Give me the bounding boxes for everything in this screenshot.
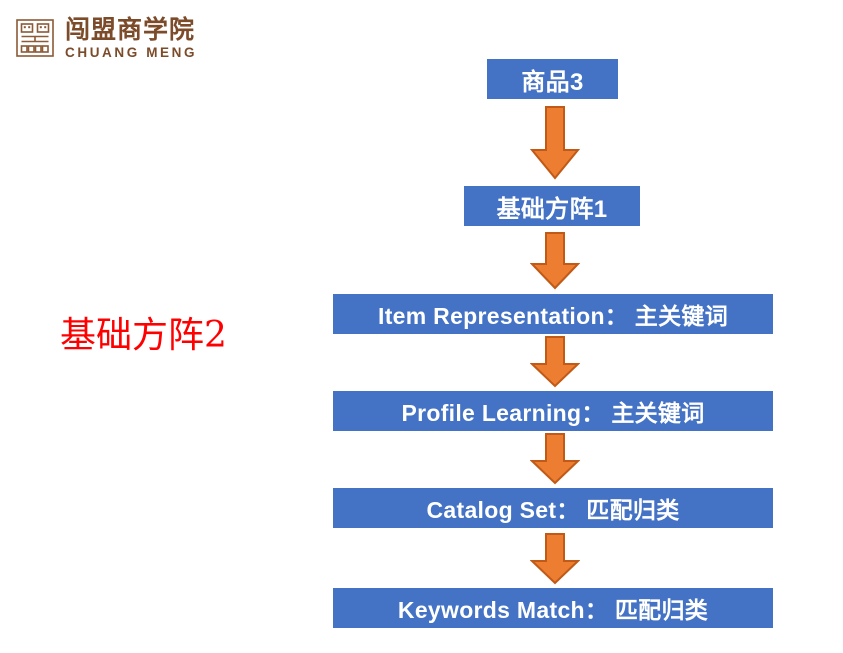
brand-name-en: CHUANG MENG [65,46,197,60]
flow-node-matrix1[interactable]: 基础方阵1 [464,186,640,226]
flow-arrow-down-4 [530,433,580,485]
flow-node-product[interactable]: 商品3 [487,59,618,99]
seal-emblem-icon [14,17,56,59]
flow-node-item-representation[interactable]: Item Representation： 主关键词 [333,294,773,334]
slide-canvas: 闯盟商学院 CHUANG MENG 基础方阵2 商品3 基础方阵1 Item R… [0,0,843,653]
flow-arrow-down-5 [530,533,580,585]
flow-node-keywords-match[interactable]: Keywords Match： 匹配归类 [333,588,773,628]
brand-wordmark: 闯盟商学院 CHUANG MENG [65,17,197,60]
brand-name-cn: 闯盟商学院 [65,17,197,42]
flow-node-profile-learning[interactable]: Profile Learning： 主关键词 [333,391,773,431]
flow-arrow-down-3 [530,336,580,388]
brand-logo: 闯盟商学院 CHUANG MENG [14,12,214,64]
side-caption-label: 基础方阵2 [60,306,290,358]
flow-arrow-down-1 [530,106,580,180]
flow-node-catalog-set[interactable]: Catalog Set： 匹配归类 [333,488,773,528]
flow-arrow-down-2 [530,232,580,290]
